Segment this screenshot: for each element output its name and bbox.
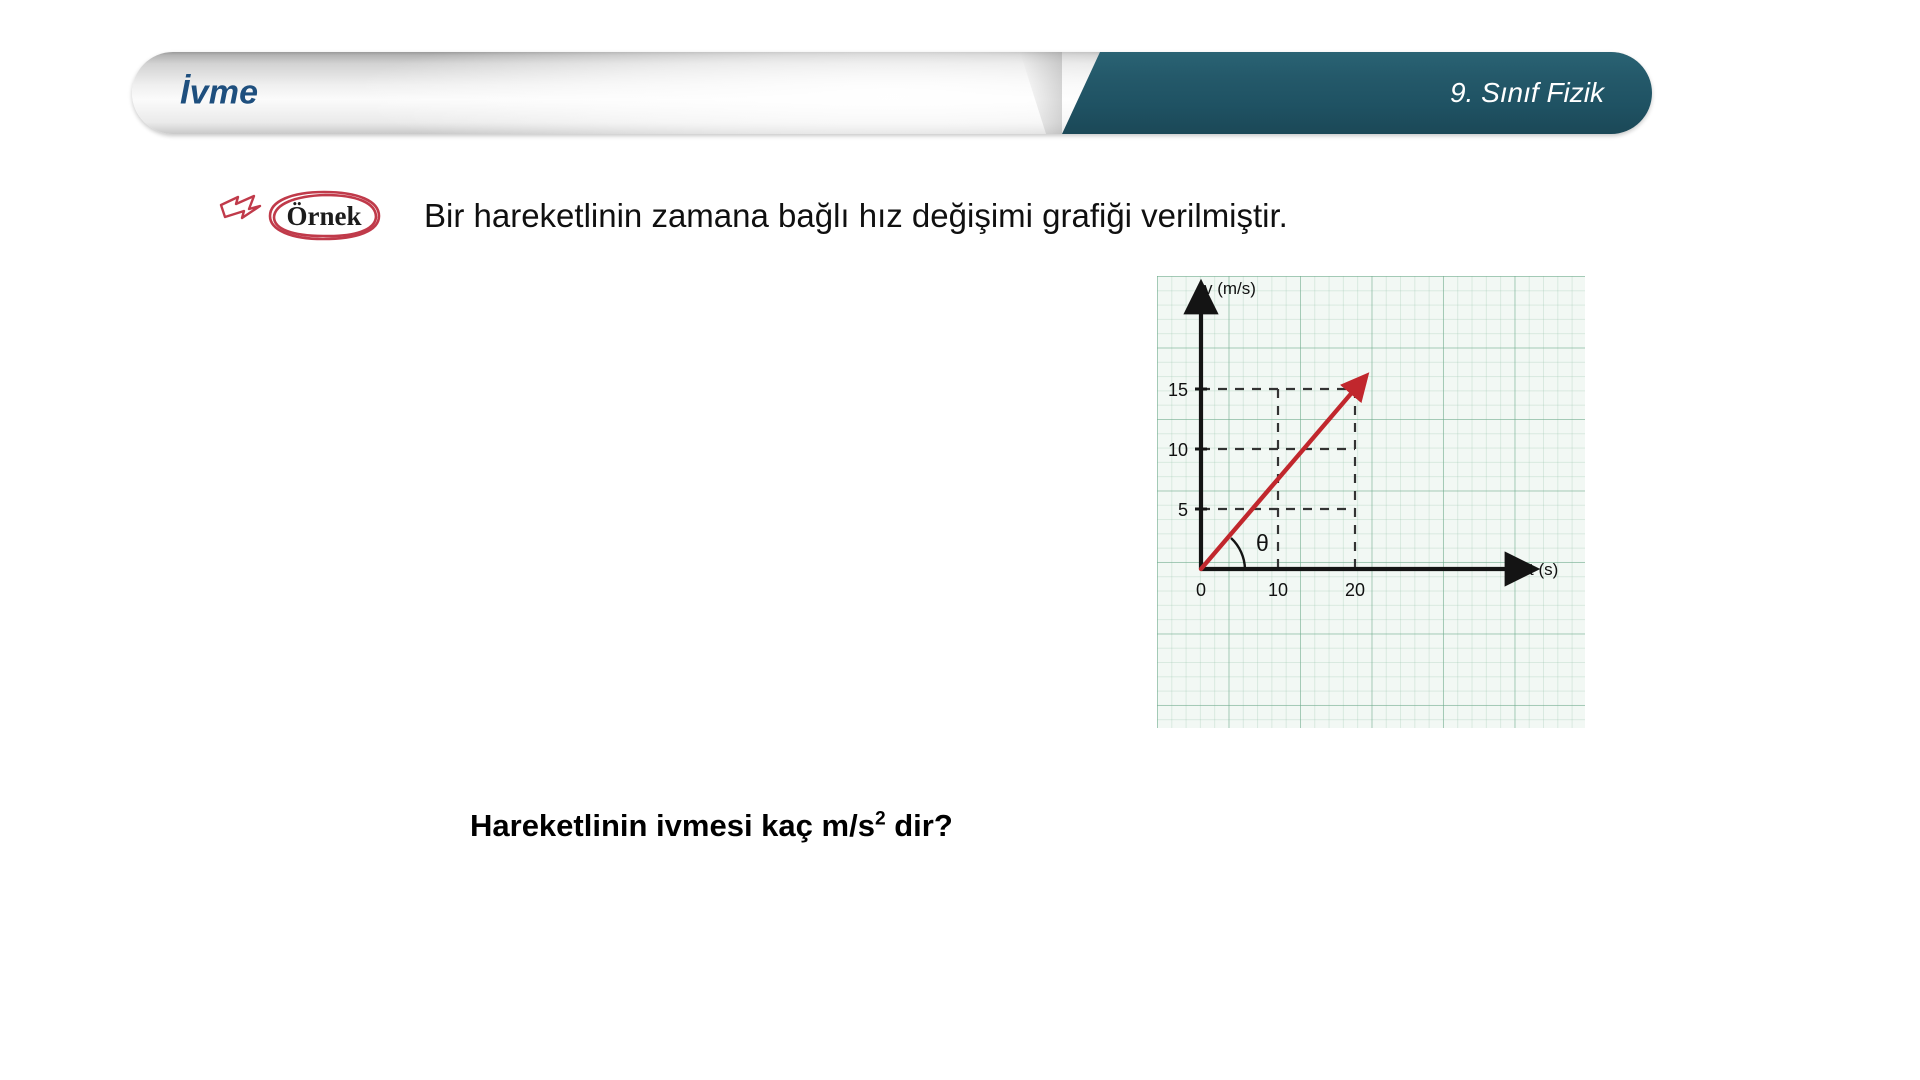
page-title: İvme	[180, 74, 258, 113]
example-prompt-text: Bir hareketlinin zamana bağlı hız değişi…	[424, 197, 1288, 235]
velocity-time-graph: θ v (m/s) t (s) 15 10 5 0 10 20	[1157, 276, 1585, 728]
graph-axes	[1201, 306, 1513, 569]
ytick-label-10: 10	[1168, 440, 1188, 460]
question-text: Hareketlinin ivmesi kaç m/s2 dir?	[470, 808, 953, 844]
subject-label: 9. Sınıf Fizik	[1450, 77, 1604, 109]
theta-arc	[1231, 538, 1245, 569]
question-exponent: 2	[875, 809, 886, 830]
hand-drawn-arrow-icon	[221, 196, 260, 218]
ytick-label-15: 15	[1168, 380, 1188, 400]
ornek-stamp: Örnek	[216, 184, 412, 248]
xtick-label-0: 0	[1196, 580, 1206, 600]
question-text-before: Hareketlinin ivmesi kaç m/s	[470, 808, 875, 843]
example-row: Örnek Bir hareketlinin zamana bağlı hız …	[216, 184, 1288, 248]
theta-label: θ	[1256, 530, 1269, 556]
t-axis-label: t (s)	[1529, 560, 1558, 579]
question-text-after: dir?	[886, 808, 953, 843]
v-axis-label: v (m/s)	[1204, 279, 1256, 298]
ornek-stamp-label: Örnek	[286, 201, 361, 231]
xtick-label-20: 20	[1345, 580, 1365, 600]
xtick-label-10: 10	[1268, 580, 1288, 600]
page-header-banner: İvme 9. Sınıf Fizik	[132, 52, 1652, 134]
ytick-label-5: 5	[1178, 500, 1188, 520]
graph-svg: θ v (m/s) t (s) 15 10 5 0 10 20	[1157, 276, 1585, 728]
